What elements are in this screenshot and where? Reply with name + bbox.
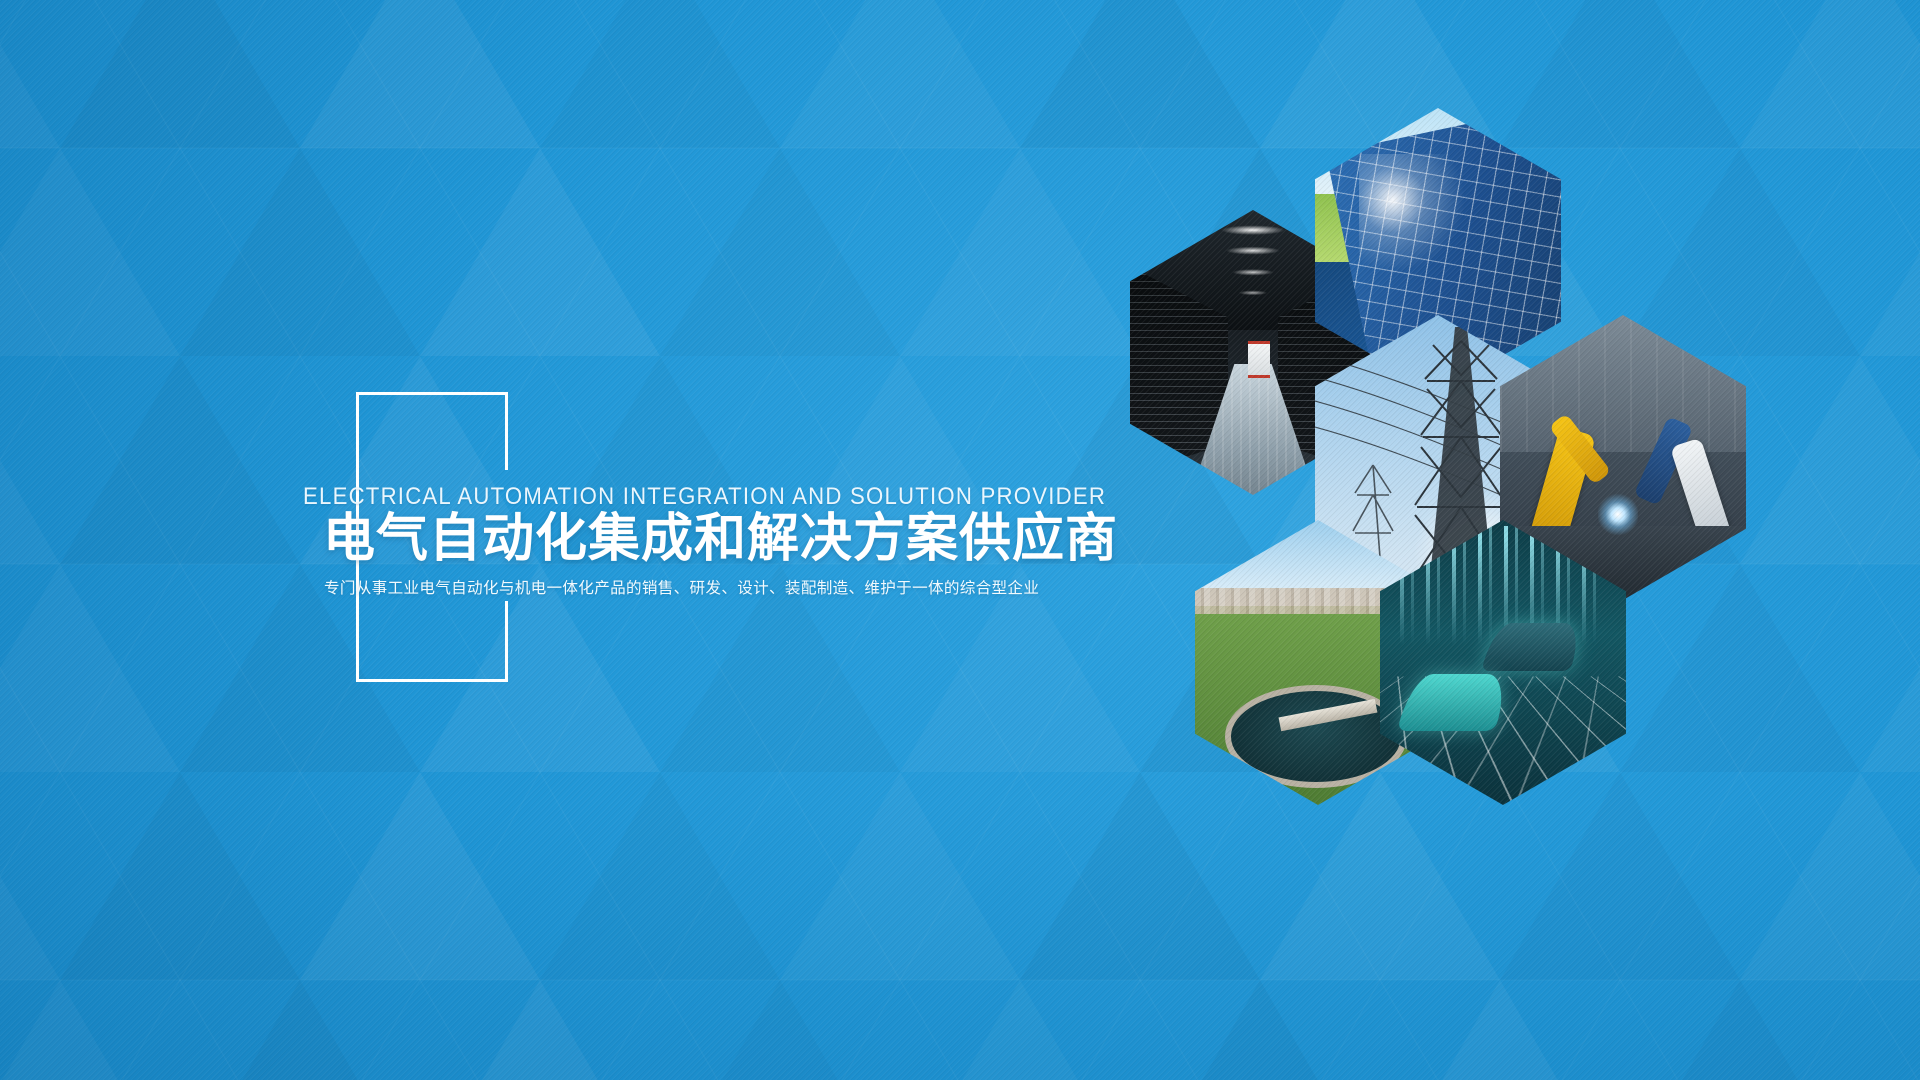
hexagon-image-gallery [1130,100,1830,840]
hero-eyebrow: ELECTRICAL AUTOMATION INTEGRATION AND SO… [303,483,1106,511]
page-title: 电气自动化集成和解决方案供应商 [323,510,1118,568]
hero-subtitle: 专门从事工业电气自动化与机电一体化产品的销售、研发、设计、装配制造、维护于一体的… [324,576,1039,598]
